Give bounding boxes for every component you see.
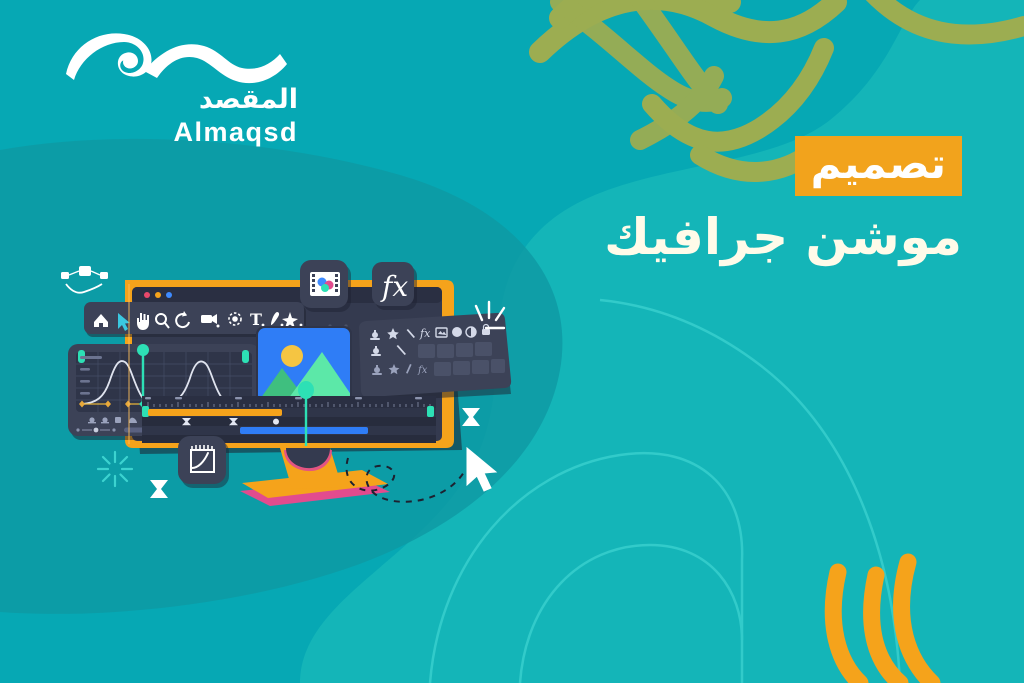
film-image-icon xyxy=(310,272,340,296)
timeline-clip-orange[interactable] xyxy=(148,409,282,416)
mouse-cursor-icon[interactable] xyxy=(467,448,496,491)
sparkle-icon xyxy=(98,452,132,486)
poster-canvas: المقصد Almaqsd تصميم موشن جرافيك xyxy=(0,0,1024,683)
hourglass-icon-right xyxy=(462,408,480,426)
poster-title: تصميم موشن جرافيك xyxy=(604,136,962,265)
text-tool-icon[interactable]: T xyxy=(250,310,262,329)
sun-icon xyxy=(281,345,303,367)
brush-dot xyxy=(281,324,284,327)
fx-small-icon[interactable]: fx xyxy=(417,365,428,376)
timeline-cap-right[interactable] xyxy=(427,406,434,417)
brand-logo[interactable]: المقصد Almaqsd xyxy=(58,24,298,144)
window-dot-minimize[interactable] xyxy=(155,292,161,298)
effects-layers-panel[interactable]: fx xyxy=(359,313,511,402)
fx-badge[interactable]: fx xyxy=(372,262,417,310)
graph-handle-right[interactable] xyxy=(242,350,249,363)
fx-icon: fx xyxy=(380,270,408,303)
window-dot-maximize[interactable] xyxy=(166,292,172,298)
fx-small-icon[interactable]: fx xyxy=(419,327,431,340)
hourglass-icon-left xyxy=(150,480,168,498)
easing-curve-badge[interactable] xyxy=(178,436,229,488)
timeline-cap-left[interactable] xyxy=(142,406,149,417)
almaqsd-wave-logo-icon xyxy=(58,24,288,90)
title-main-line: موشن جرافيك xyxy=(604,209,962,265)
title-highlight-badge: تصميم xyxy=(795,136,962,196)
diamond-marker xyxy=(273,419,279,425)
logo-dot xyxy=(123,56,137,69)
bezier-handle-icon xyxy=(61,266,108,293)
brand-name-arabic: المقصد xyxy=(199,86,298,113)
film-strip-badge[interactable] xyxy=(300,260,351,312)
timeline-ruler[interactable] xyxy=(142,396,436,408)
brand-name-english: Almaqsd xyxy=(173,119,298,146)
timeline-clip-blue[interactable] xyxy=(240,427,368,434)
graph-panel-label xyxy=(80,356,102,359)
sphere-icon[interactable] xyxy=(452,327,462,337)
monitor-stand xyxy=(240,448,390,506)
window-dot-close[interactable] xyxy=(144,292,150,298)
clone-dot xyxy=(300,324,303,327)
motion-graphics-illustration: T xyxy=(30,240,560,550)
text-tool-dot xyxy=(262,324,265,327)
